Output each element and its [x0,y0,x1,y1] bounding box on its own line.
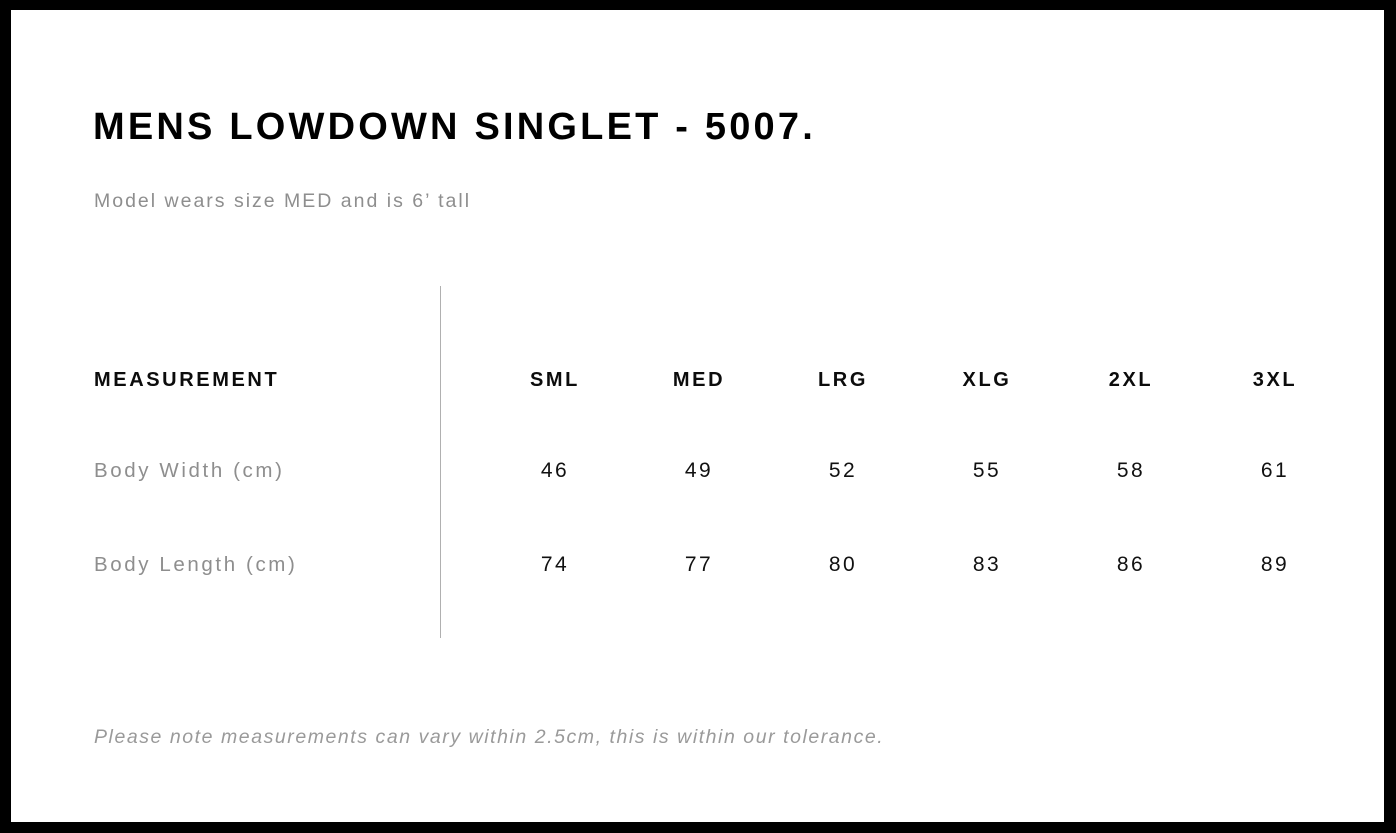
row-label-body-width: Body Width (cm) [94,456,285,486]
column-header-size: 2XL [1071,365,1191,395]
measurement-cell: 49 [639,456,759,486]
measurement-cell: 86 [1071,550,1191,580]
column-header-size: LRG [783,365,903,395]
table-header-row: MEASUREMENT SMLMEDLRGXLG2XL3XL [11,365,1384,395]
measurement-cell: 58 [1071,456,1191,486]
table-row: Body Width (cm) 464952555861 [11,456,1384,486]
measurement-cell: 52 [783,456,903,486]
column-header-size: MED [639,365,759,395]
column-header-size: 3XL [1215,365,1335,395]
tolerance-note: Please note measurements can vary within… [94,728,884,748]
row-label-body-length: Body Length (cm) [94,550,297,580]
column-header-size: SML [495,365,615,395]
measurement-cell: 46 [495,456,615,486]
measurement-cell: 74 [495,550,615,580]
measurement-cell: 80 [783,550,903,580]
column-header-measurement: MEASUREMENT [94,365,279,395]
measurement-cell: 61 [1215,456,1335,486]
size-chart-table: MEASUREMENT SMLMEDLRGXLG2XL3XL Body Widt… [11,10,1384,822]
column-header-size: XLG [927,365,1047,395]
measurement-cell: 55 [927,456,1047,486]
poster-frame: MENS LOWDOWN SINGLET - 5007. Model wears… [0,0,1396,833]
table-row: Body Length (cm) 747780838689 [11,550,1384,580]
measurement-cell: 89 [1215,550,1335,580]
measurement-cell: 77 [639,550,759,580]
measurement-cell: 83 [927,550,1047,580]
size-chart-page: MENS LOWDOWN SINGLET - 5007. Model wears… [11,10,1384,822]
